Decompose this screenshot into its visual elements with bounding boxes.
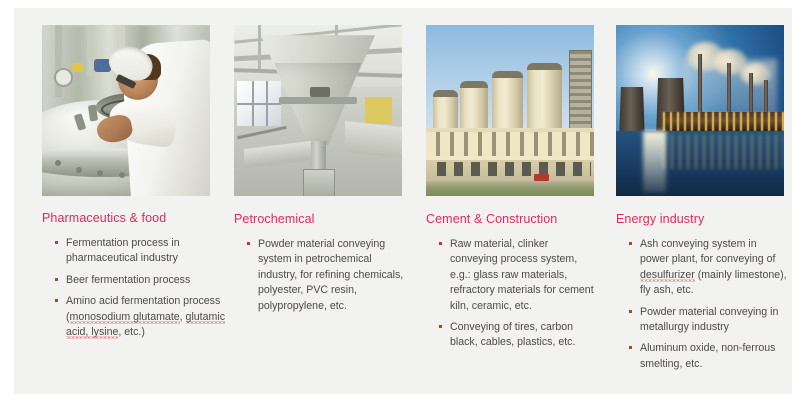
bullet-list: Powder material conveying system in petr… xyxy=(246,237,406,320)
spellcheck-underline: monosodium glutamate xyxy=(70,311,180,324)
slide-canvas: Pharmaceutics & food Fermentation proces… xyxy=(14,8,792,394)
column-heading: Cement & Construction xyxy=(426,212,557,226)
list-item: Fermentation process in pharmaceutical i… xyxy=(54,236,236,267)
photo-pharmaceutics-food xyxy=(42,25,210,196)
list-item: Conveying of tires, carbon black, cables… xyxy=(438,320,596,351)
list-item: Powder material conveying in metallurgy … xyxy=(628,305,788,336)
bullet-list: Fermentation process in pharmaceutical i… xyxy=(54,236,236,346)
column-heading: Pharmaceutics & food xyxy=(42,211,166,225)
column-heading: Petrochemical xyxy=(234,212,315,226)
column-heading: Energy industry xyxy=(616,212,704,226)
photo-energy-industry xyxy=(616,25,784,196)
photo-cement-construction xyxy=(426,25,594,196)
photo-petrochemical xyxy=(234,25,402,196)
list-item: Ash conveying system in power plant, for… xyxy=(628,237,788,299)
list-item: Powder material conveying system in petr… xyxy=(246,237,406,314)
bullet-list: Raw material, clinker conveying process … xyxy=(438,237,596,357)
list-item: Beer fermentation process xyxy=(54,273,236,288)
list-item: Raw material, clinker conveying process … xyxy=(438,237,596,314)
list-item: Aluminum oxide, non-ferrous smelting, et… xyxy=(628,341,788,372)
bullet-list: Ash conveying system in power plant, for… xyxy=(628,237,788,378)
list-item: Amino acid fermentation process (monosod… xyxy=(54,294,236,340)
spellcheck-underline: desulfurizer xyxy=(640,269,695,282)
